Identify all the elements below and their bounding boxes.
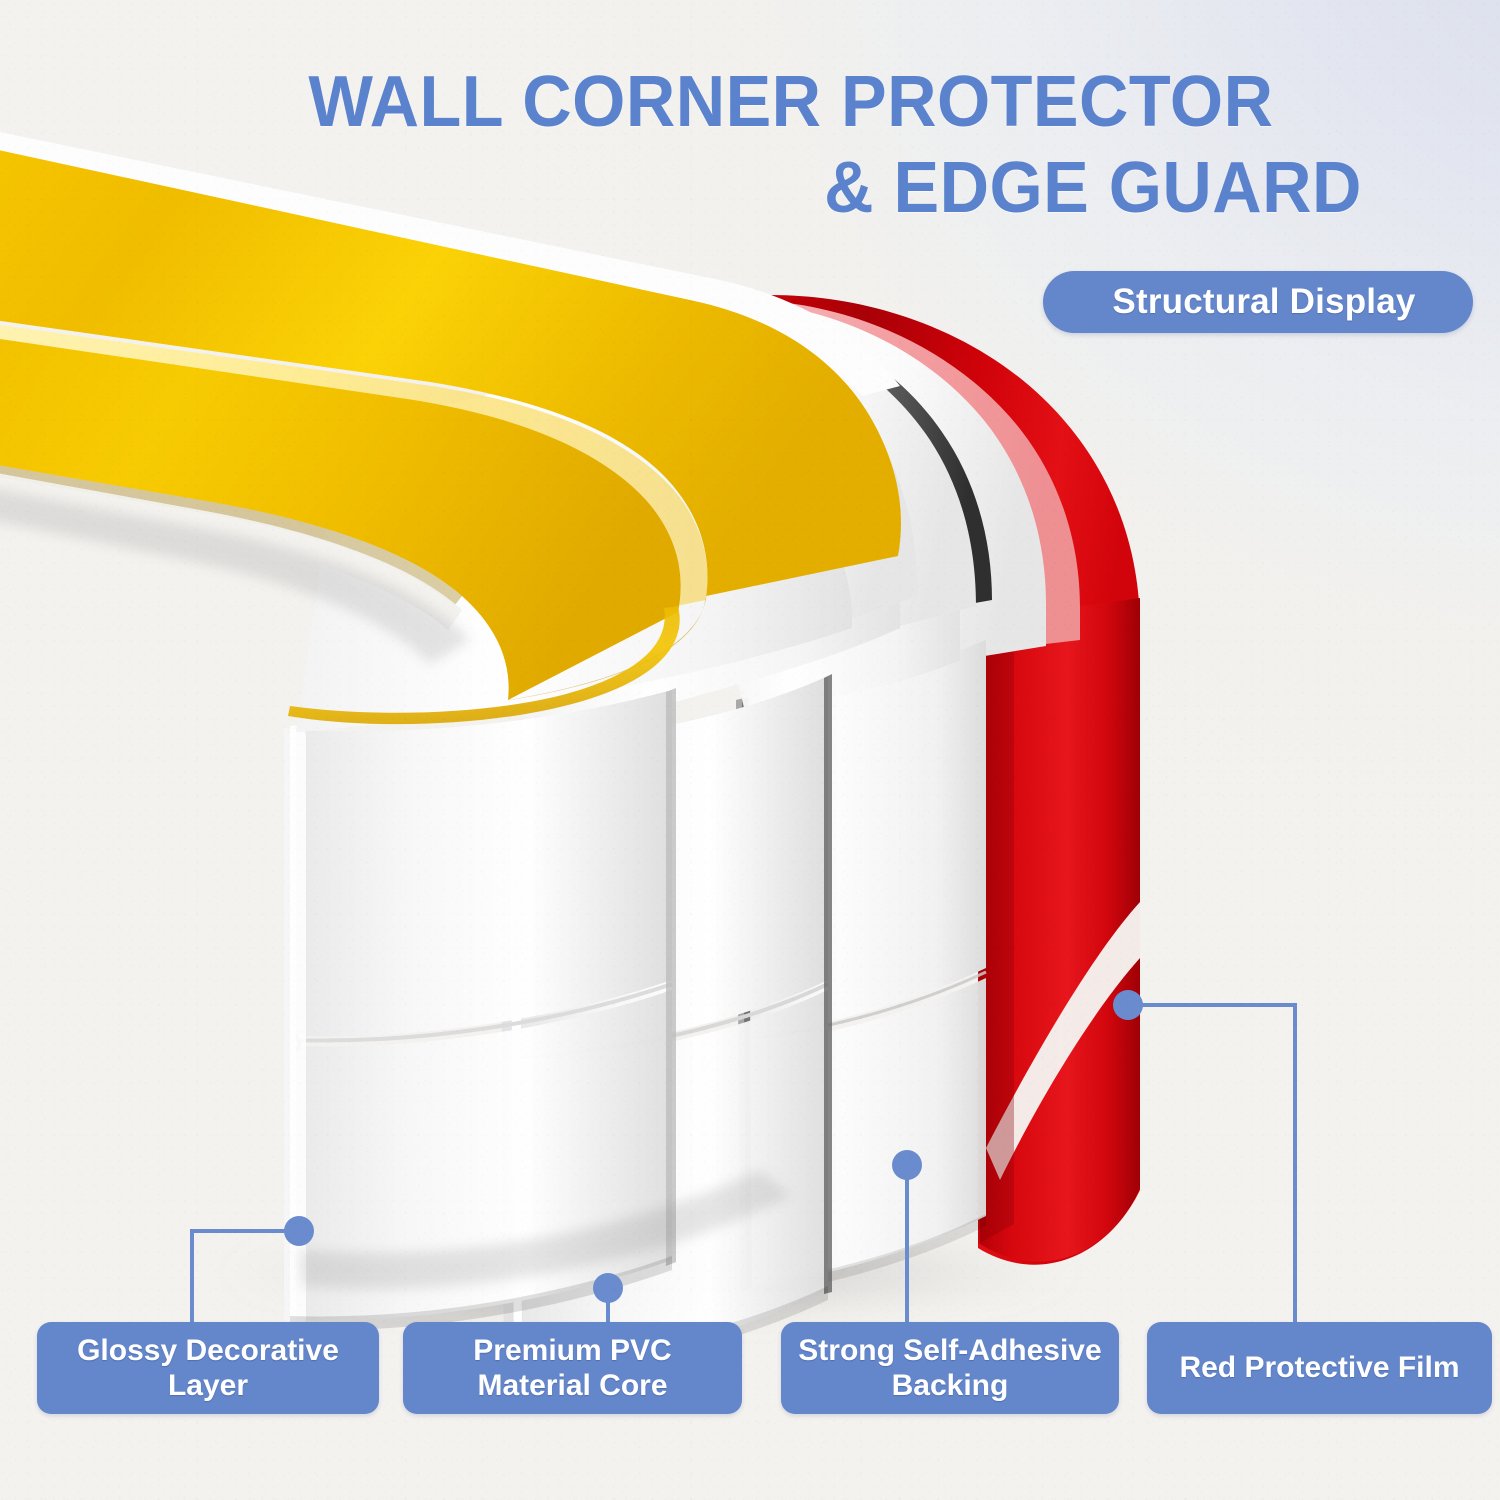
leader-line-4: [1128, 1005, 1295, 1322]
callout-label-strong-self-adhesive-backing: Strong Self-Adhesive Backing: [781, 1322, 1119, 1414]
anchor-dot-glossy-decorative-layer: [284, 1216, 314, 1246]
anchor-dot-red-protective-film: [1113, 990, 1143, 1020]
page-title-line-1: WALL CORNER PROTECTOR: [308, 66, 1273, 138]
callout-label-premium-pvc-material-core: Premium PVC Material Core: [403, 1322, 742, 1414]
callout-label-glossy-decorative-layer: Glossy Decorative Layer: [37, 1322, 379, 1414]
structural-display-badge: Structural Display: [1043, 271, 1473, 333]
callout-label-line: Strong Self-Adhesive: [798, 1333, 1101, 1368]
page-title-line-2: & EDGE GUARD: [824, 152, 1362, 224]
callout-label-line: Red Protective Film: [1179, 1350, 1459, 1385]
infographic-canvas: WALL CORNER PROTECTOR & EDGE GUARD Struc…: [0, 0, 1500, 1500]
callout-label-line: Backing: [798, 1368, 1101, 1403]
anchor-dot-premium-pvc-material-core: [593, 1273, 623, 1303]
callout-label-red-protective-film: Red Protective Film: [1147, 1322, 1492, 1414]
callout-label-line: Material Core: [473, 1368, 671, 1403]
callout-label-line: Layer: [77, 1368, 339, 1403]
callout-label-line: Premium PVC: [473, 1333, 671, 1368]
callout-label-line: Glossy Decorative: [77, 1333, 339, 1368]
anchor-dot-strong-self-adhesive-backing: [892, 1150, 922, 1180]
